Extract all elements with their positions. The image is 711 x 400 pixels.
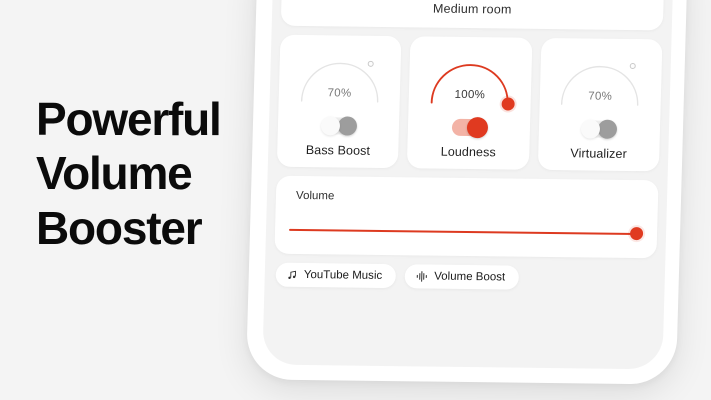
virtualizer-gauge[interactable]: 70% — [557, 54, 645, 111]
volume-card: Volume — [274, 176, 658, 259]
music-note-icon — [287, 269, 298, 280]
volume-label: Volume — [296, 190, 335, 202]
toggle-knob — [598, 120, 618, 139]
bass-boost-percent: 70% — [296, 87, 382, 100]
virtualizer-label: Virtualizer — [538, 146, 660, 161]
bass-boost-knob[interactable] — [367, 61, 373, 67]
chip-volume-boost[interactable]: Volume Boost — [405, 264, 520, 289]
virtualizer-toggle[interactable] — [582, 120, 616, 137]
volume-slider[interactable] — [289, 224, 641, 240]
chips-row: YouTube Music Volume Boost — [273, 263, 656, 292]
page-title: Powerful Volume Booster — [36, 92, 221, 255]
loudness-percent: 100% — [427, 89, 513, 102]
toggle-knob — [337, 116, 357, 135]
chip-label: YouTube Music — [304, 269, 383, 282]
chip-youtube-music[interactable]: YouTube Music — [275, 263, 396, 288]
equalizer-icon — [416, 270, 428, 282]
room-preset-label: Medium room — [281, 0, 663, 18]
chip-label: Volume Boost — [434, 271, 505, 284]
volume-slider-thumb[interactable] — [630, 227, 643, 240]
phone-mockup: Medium room 70% Bass Boost — [246, 0, 688, 385]
loudness-toggle[interactable] — [452, 119, 486, 136]
virtualizer-percent: 70% — [557, 90, 643, 103]
bass-boost-gauge[interactable]: 70% — [296, 51, 384, 108]
toggle-knob — [467, 117, 489, 138]
volume-slider-track — [289, 229, 641, 235]
bass-boost-label: Bass Boost — [277, 143, 399, 158]
effect-card-virtualizer[interactable]: 70% Virtualizer — [537, 38, 662, 171]
loudness-gauge[interactable]: 100% — [426, 53, 514, 110]
effect-card-bass-boost[interactable]: 70% Bass Boost — [277, 35, 402, 168]
room-preset-card: Medium room — [281, 0, 666, 30]
effect-card-loudness[interactable]: 100% Loudness — [407, 36, 532, 169]
effects-row: 70% Bass Boost 100% — [277, 35, 663, 172]
loudness-label: Loudness — [407, 144, 529, 159]
phone-screen: Medium room 70% Bass Boost — [262, 0, 673, 369]
bass-boost-toggle[interactable] — [321, 117, 355, 134]
